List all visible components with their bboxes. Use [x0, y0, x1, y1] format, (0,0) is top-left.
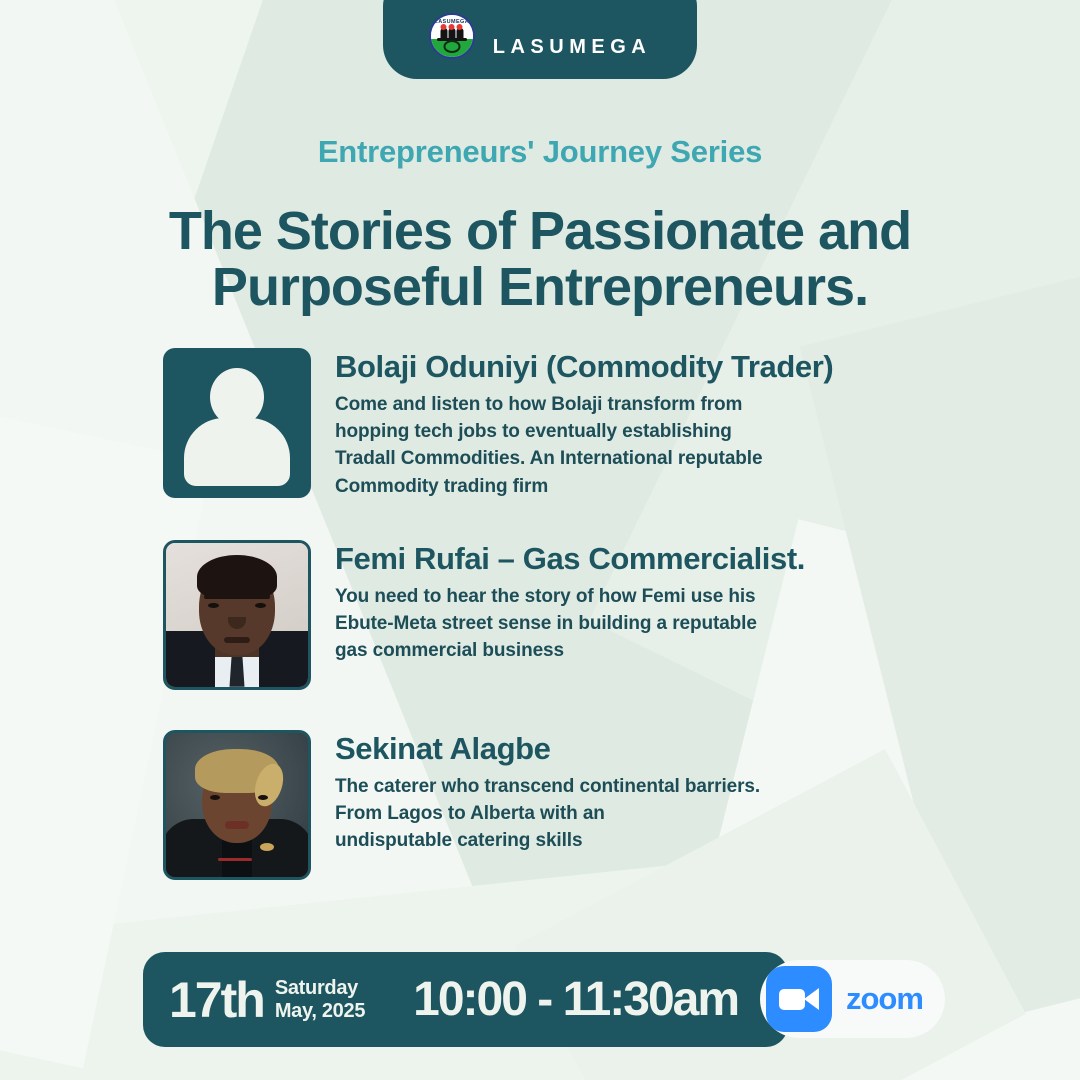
speaker-text: Femi Rufai – Gas Commercialist. You need…	[335, 540, 1023, 665]
brand-name: LASUMEGA	[493, 36, 651, 59]
event-details-bar: 17th Saturday May, 2025 10:00 - 11:30am	[143, 952, 788, 1047]
speaker-text: Bolaji Oduniyi (Commodity Trader) Come a…	[335, 348, 1023, 500]
brand-header: LASUMEGA LASUMEGA	[383, 0, 697, 79]
speaker-name: Bolaji Oduniyi (Commodity Trader)	[335, 350, 1023, 384]
event-day: 17th	[169, 975, 264, 1025]
portrait-hair	[197, 555, 277, 599]
portrait-eye-left	[210, 795, 220, 800]
portrait-eye-right	[255, 603, 266, 608]
camera-body	[779, 989, 805, 1010]
portrait-brow	[204, 595, 270, 599]
series-kicker: Entrepreneurs' Journey Series	[0, 134, 1080, 170]
speaker-item: Femi Rufai – Gas Commercialist. You need…	[163, 540, 1023, 690]
crest-emblem	[443, 40, 460, 53]
crest-figures	[440, 28, 463, 38]
speaker-item: Sekinat Alagbe The caterer who transcend…	[163, 730, 1023, 880]
speaker-list: Bolaji Oduniyi (Commodity Trader) Come a…	[163, 348, 1023, 880]
event-flyer: LASUMEGA LASUMEGA Entrepreneurs' Journey…	[0, 0, 1080, 1080]
portrait-red-stripe	[218, 858, 252, 861]
portrait-eye-right	[258, 795, 268, 800]
event-time: 10:00 - 11:30am	[413, 972, 738, 1027]
zoom-wordmark: zoom	[846, 981, 923, 1017]
speaker-name: Sekinat Alagbe	[335, 732, 1023, 766]
speaker-item: Bolaji Oduniyi (Commodity Trader) Come a…	[163, 348, 1023, 500]
portrait-eye-left	[208, 603, 219, 608]
portrait-mouth	[224, 637, 250, 643]
zoom-platform-badge[interactable]: zoom	[760, 960, 945, 1038]
event-month-year: May, 2025	[275, 1000, 365, 1022]
event-weekday: Saturday	[275, 977, 365, 999]
speaker-description: Come and listen to how Bolaji transform …	[335, 391, 1023, 500]
event-date: 17th Saturday May, 2025	[169, 975, 365, 1025]
speaker-description: You need to hear the story of how Femi u…	[335, 583, 1023, 664]
event-date-sub: Saturday May, 2025	[275, 977, 365, 1022]
crest-figure	[448, 28, 455, 38]
zoom-camera-icon	[766, 966, 832, 1032]
speaker-name: Femi Rufai – Gas Commercialist.	[335, 542, 1023, 576]
crest-figure	[440, 28, 447, 38]
person-placeholder-icon	[163, 348, 311, 498]
speaker-description: The caterer who transcend continental ba…	[335, 773, 1023, 854]
page-title: The Stories of Passionate and Purposeful…	[60, 203, 1020, 315]
speaker-text: Sekinat Alagbe The caterer who transcend…	[335, 730, 1023, 855]
portrait-gold-crest	[260, 843, 274, 851]
camera-lens	[804, 988, 819, 1010]
speaker-portrait-sekinat	[163, 730, 311, 880]
crest-figure	[456, 28, 463, 38]
placeholder-body	[184, 418, 290, 486]
speaker-portrait-femi	[163, 540, 311, 690]
portrait-mouth	[225, 821, 249, 829]
lasumega-crest-icon: LASUMEGA	[429, 13, 475, 59]
